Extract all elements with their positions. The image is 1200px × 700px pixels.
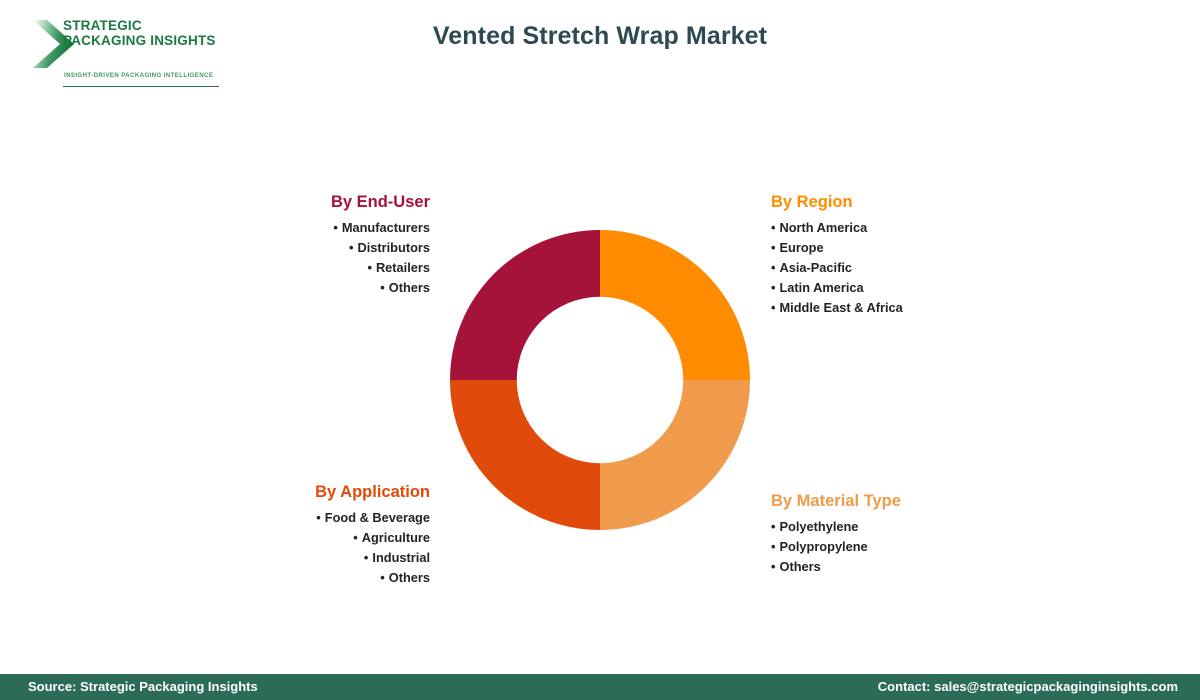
- logo-divider: [63, 86, 219, 87]
- list-item: •Middle East & Africa: [771, 298, 1051, 318]
- segment-heading-region: By Region: [771, 193, 1051, 212]
- bullet-icon: •: [364, 550, 368, 565]
- list-item: •Others: [225, 278, 430, 298]
- bullet-icon: •: [349, 240, 353, 255]
- list-item: •Industrial: [205, 548, 430, 568]
- segment-heading-application: By Application: [205, 483, 430, 502]
- logo-tagline: INSIGHT-DRIVEN PACKAGING INTELLIGENCE: [64, 72, 213, 79]
- page-title: Vented Stretch Wrap Market: [0, 22, 1200, 51]
- footer-contact-text: Contact: sales@strategicpackaginginsight…: [878, 679, 1178, 694]
- bullet-icon: •: [771, 240, 775, 255]
- bullet-icon: •: [771, 300, 775, 315]
- bullet-icon: •: [771, 559, 775, 574]
- list-item-label: North America: [779, 220, 867, 235]
- segment-list-region: •North America •Europe •Asia-Pacific •La…: [771, 218, 1051, 318]
- list-item: •Polypropylene: [771, 537, 1051, 557]
- segment-group-end-user: By End-User •Manufacturers •Distributors…: [225, 193, 430, 298]
- list-item-label: Latin America: [779, 280, 863, 295]
- bullet-icon: •: [771, 519, 775, 534]
- bullet-icon: •: [771, 220, 775, 235]
- list-item-label: Others: [779, 559, 820, 574]
- donut-chart: [450, 230, 750, 530]
- bullet-icon: •: [316, 510, 320, 525]
- list-item-label: Food & Beverage: [325, 510, 430, 525]
- bullet-icon: •: [771, 539, 775, 554]
- list-item: •Asia-Pacific: [771, 258, 1051, 278]
- segment-list-end-user: •Manufacturers •Distributors •Retailers …: [225, 218, 430, 298]
- footer-bar: Source: Strategic Packaging Insights Con…: [0, 674, 1200, 700]
- bullet-icon: •: [771, 260, 775, 275]
- list-item-label: Industrial: [372, 550, 430, 565]
- list-item-label: Europe: [779, 240, 823, 255]
- list-item: •Food & Beverage: [205, 508, 430, 528]
- list-item-label: Manufacturers: [342, 220, 430, 235]
- list-item-label: Asia-Pacific: [779, 260, 852, 275]
- list-item: •Others: [771, 557, 1051, 577]
- bullet-icon: •: [380, 570, 384, 585]
- list-item: •North America: [771, 218, 1051, 238]
- list-item-label: Others: [389, 280, 430, 295]
- segment-heading-material-type: By Material Type: [771, 492, 1051, 511]
- list-item: •Retailers: [225, 258, 430, 278]
- footer-source-text: Source: Strategic Packaging Insights: [28, 679, 258, 694]
- bullet-icon: •: [333, 220, 337, 235]
- list-item: •Manufacturers: [225, 218, 430, 238]
- list-item: •Europe: [771, 238, 1051, 258]
- segment-group-region: By Region •North America •Europe •Asia-P…: [771, 193, 1051, 318]
- list-item-label: Distributors: [357, 240, 430, 255]
- segment-heading-end-user: By End-User: [225, 193, 430, 212]
- segment-group-material-type: By Material Type •Polyethylene •Polyprop…: [771, 492, 1051, 577]
- donut-hole: [517, 297, 684, 464]
- list-item-label: Retailers: [376, 260, 430, 275]
- list-item: •Others: [205, 568, 430, 588]
- segment-list-material-type: •Polyethylene •Polypropylene •Others: [771, 517, 1051, 577]
- bullet-icon: •: [353, 530, 357, 545]
- list-item: •Latin America: [771, 278, 1051, 298]
- donut-slices: [450, 230, 750, 530]
- list-item-label: Others: [389, 570, 430, 585]
- list-item-label: Polyethylene: [779, 519, 858, 534]
- segment-list-application: •Food & Beverage •Agriculture •Industria…: [205, 508, 430, 588]
- segment-group-application: By Application •Food & Beverage •Agricul…: [205, 483, 430, 588]
- bullet-icon: •: [380, 280, 384, 295]
- list-item: •Agriculture: [205, 528, 430, 548]
- list-item: •Distributors: [225, 238, 430, 258]
- list-item: •Polyethylene: [771, 517, 1051, 537]
- bullet-icon: •: [367, 260, 371, 275]
- list-item-label: Middle East & Africa: [779, 300, 902, 315]
- list-item-label: Polypropylene: [779, 539, 867, 554]
- list-item-label: Agriculture: [362, 530, 430, 545]
- bullet-icon: •: [771, 280, 775, 295]
